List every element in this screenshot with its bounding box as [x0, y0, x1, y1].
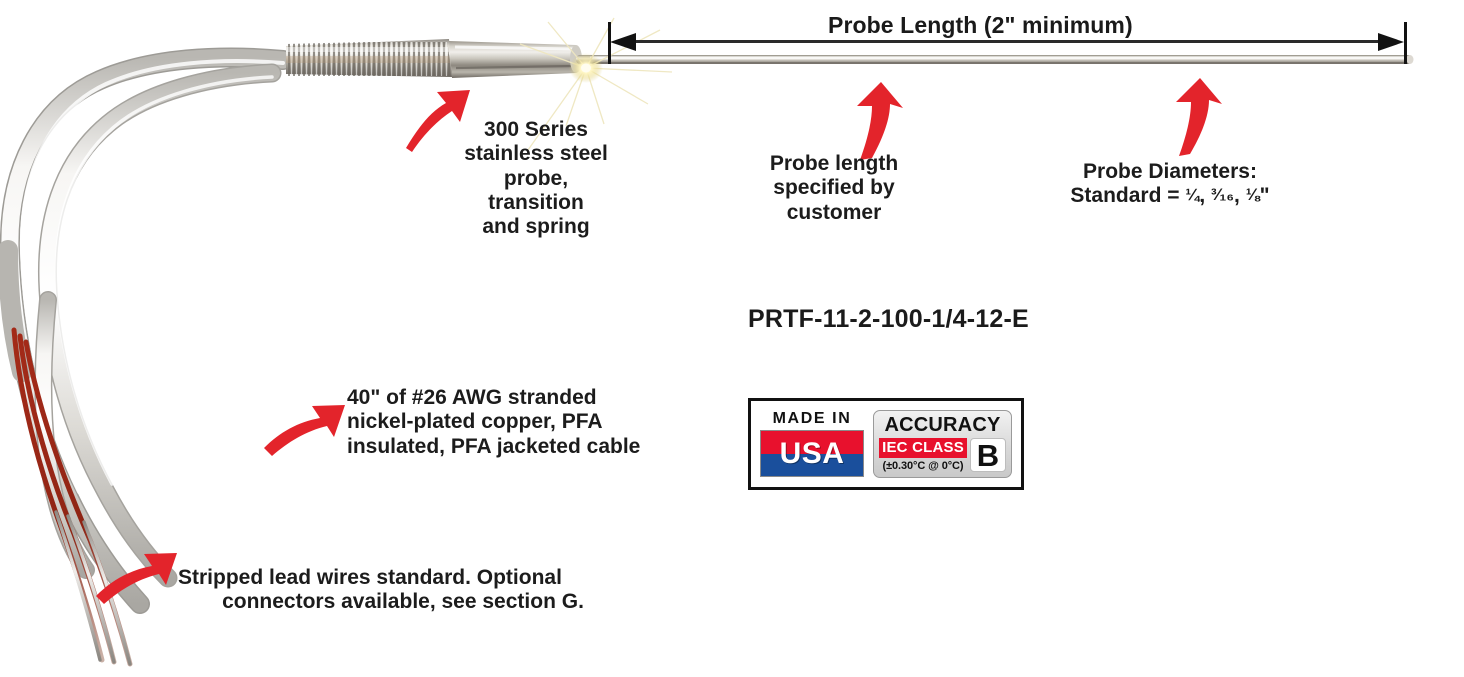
accuracy-title: ACCURACY [879, 415, 1006, 436]
callout-spring-text: 300 Series stainless steel probe, transi… [456, 118, 616, 240]
callout-cable-line-2: nickel-plated copper, PFA [347, 410, 707, 434]
callout-diameters-line-1: Probe Diameters: [1050, 160, 1290, 184]
callout-spring-line-3: probe, transition [456, 167, 616, 216]
callout-cable-line-1: 40" of #26 AWG stranded [347, 386, 707, 410]
part-number: PRTF-11-2-100-1/4-12-E [748, 305, 1029, 334]
diameters-sep-1: , [1199, 184, 1211, 207]
callout-lead-wires-text: Stripped lead wires standard. Optional c… [178, 566, 628, 615]
diameters-inch-mark: " [1260, 184, 1270, 207]
callout-leadwires-line-2: connectors available, see section G. [178, 590, 628, 614]
accuracy-detail-row: IEC CLASS (±0.30°C @ 0°C) B [879, 438, 1006, 471]
dimension-arrow-right-icon [1378, 33, 1404, 51]
callout-cable-text: 40" of #26 AWG stranded nickel-plated co… [347, 386, 707, 459]
probe-tip [1407, 55, 1414, 64]
probe-sheath-highlight [590, 57, 1408, 59]
diameters-sep-2: , [1234, 184, 1246, 207]
dimension-label: Probe Length (2" minimum) [828, 12, 1133, 39]
diameters-prefix: Standard = [1070, 184, 1185, 207]
red-arrow-up-probe-length [857, 82, 903, 160]
made-in-label: MADE IN [773, 411, 852, 427]
probe-sheath-shadow [590, 62, 1408, 63]
callout-spring-line-1: 300 Series [456, 118, 616, 142]
callout-spring-line-4: and spring [456, 215, 616, 239]
cable-outer-highlight [22, 61, 283, 492]
product-diagram: Probe Length (2" minimum) 300 Series sta… [0, 0, 1464, 677]
diameter-fraction-three-sixteenths: ³⁄₁₆ [1211, 185, 1234, 204]
usa-label: USA [761, 439, 863, 469]
callout-probe-length-line-2: specified by [748, 176, 920, 200]
callout-diameters-line-2: Standard = ¼, ³⁄₁₆, ⅛" [1050, 184, 1290, 208]
callout-probe-length-line-3: customer [748, 201, 920, 225]
callout-probe-length-line-1: Probe length [748, 152, 920, 176]
dimension-rule [630, 40, 1386, 43]
red-arrow-up-diameters [1176, 78, 1222, 156]
diameter-fraction-quarter: ¼ [1185, 185, 1199, 204]
callout-spring-line-2: stainless steel [456, 142, 616, 166]
callout-cable-line-3: insulated, PFA jacketed cable [347, 435, 707, 459]
iec-class-label: IEC CLASS [879, 438, 967, 457]
dimension-tick-right [1404, 22, 1407, 64]
diameter-fraction-eighth: ⅛ [1246, 185, 1260, 204]
certification-badge: MADE IN USA ACCURACY IEC CLASS (±0.30°C … [748, 398, 1024, 490]
accuracy-grade-letter: B [970, 438, 1006, 471]
accuracy-block: ACCURACY IEC CLASS (±0.30°C @ 0°C) B [873, 410, 1012, 477]
dimension-arrow-left-icon [610, 33, 636, 51]
usa-flag-icon: USA [760, 430, 864, 477]
accuracy-tolerance: (±0.30°C @ 0°C) [879, 460, 967, 472]
accuracy-class-column: IEC CLASS (±0.30°C @ 0°C) [879, 438, 967, 471]
red-arrow-left-cable [264, 405, 345, 456]
callout-probe-length-text: Probe length specified by customer [748, 152, 920, 225]
callout-leadwires-line-1: Stripped lead wires standard. Optional [178, 566, 628, 590]
callout-probe-diameters-text: Probe Diameters: Standard = ¼, ³⁄₁₆, ⅛" [1050, 160, 1290, 209]
made-in-usa-block: MADE IN USA [760, 411, 864, 477]
transition-highlight [455, 47, 574, 49]
